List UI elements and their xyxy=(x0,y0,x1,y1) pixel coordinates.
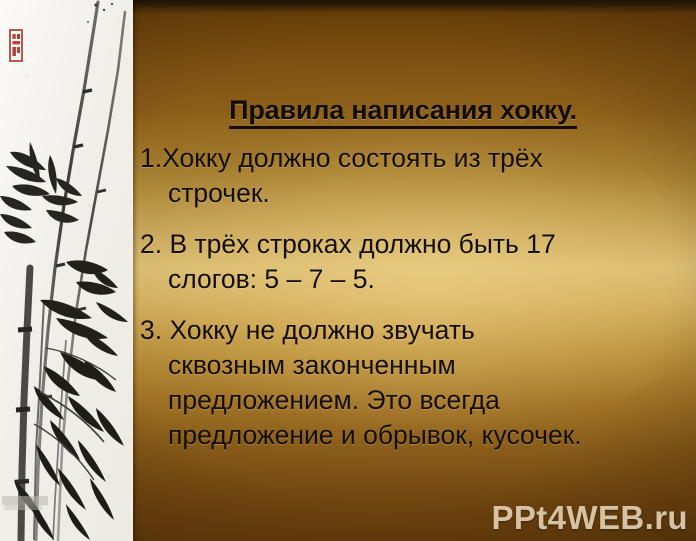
slide-title: Правила написания хокку. xyxy=(133,95,673,126)
site-watermark: PPt4WEB.ru xyxy=(491,499,688,537)
rule-2-line-1: 2. В трёх строках должно быть 17 xyxy=(140,227,693,262)
rule-2-marker: 2. xyxy=(140,229,162,259)
slide-content: Правила написания хокку. 1.Хокку должно … xyxy=(133,0,696,541)
rule-2-text-1: В трёх строках должно быть 17 xyxy=(169,229,555,259)
rule-3-line-4: предложение и обрывок, кусочек. xyxy=(140,418,693,453)
rule-1-marker: 1. xyxy=(140,143,162,173)
rule-item-2: 2. В трёх строках должно быть 17 слогов:… xyxy=(133,227,693,297)
rules-list: 1.Хокку должно состоять из трёх строчек.… xyxy=(133,141,693,469)
rule-3-line-1: 3. Хокку не должно звучать xyxy=(140,313,693,348)
rule-3-line-3: предложением. Это всегда xyxy=(140,383,693,418)
rule-item-3: 3. Хокку не должно звучать сквозным зако… xyxy=(133,313,693,453)
rule-1-line-2: строчек. xyxy=(140,176,693,211)
rule-3-marker: 3. xyxy=(140,315,162,345)
rule-1-line-1: 1.Хокку должно состоять из трёх xyxy=(140,141,693,176)
red-seal-stamp-icon xyxy=(0,0,133,541)
rule-3-line-2: сквозным законченным xyxy=(140,348,693,383)
slide-title-text: Правила написания хокку. xyxy=(229,95,577,129)
rule-2-line-2: слогов: 5 – 7 – 5. xyxy=(140,262,693,297)
rule-1-text-1: Хокку должно состоять из трёх xyxy=(162,143,543,173)
slide-canvas: Правила написания хокку. 1.Хокку должно … xyxy=(0,0,696,541)
rule-item-1: 1.Хокку должно состоять из трёх строчек. xyxy=(133,141,693,211)
rule-3-text-1: Хокку не должно звучать xyxy=(169,315,474,345)
bamboo-artwork-panel xyxy=(0,0,133,541)
